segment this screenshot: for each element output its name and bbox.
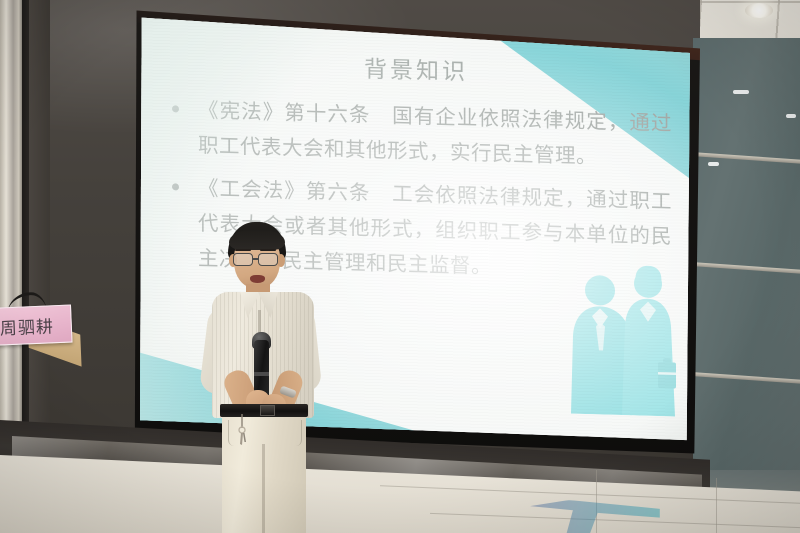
bullet-marker-icon (172, 92, 198, 163)
presenter-mouth (250, 275, 265, 283)
right-glass-wall (693, 38, 800, 488)
ceiling-downlight (745, 3, 773, 18)
keychain-icon (238, 414, 247, 448)
glass-reflection (708, 162, 719, 166)
nameplate-text: 周驷耕 (0, 312, 54, 339)
eyeglasses-icon (233, 253, 253, 266)
glass-wall-seam (693, 261, 800, 274)
bullet-marker-icon (172, 170, 198, 276)
floor-tile-seam (716, 478, 717, 533)
slide-bullet-item: 《宪法》第十六条 国有企业依照法律规定，通过职工代表大会和其他形式，实行民主管理… (172, 92, 672, 176)
presenter-figure (198, 222, 328, 533)
eyeglasses-bridge (253, 258, 258, 260)
belt-buckle-icon (260, 405, 275, 416)
glass-wall-seam (693, 371, 800, 384)
desk-nameplate: 周驷耕 (0, 304, 79, 356)
microphone-band (254, 372, 269, 376)
glass-reflection (733, 90, 749, 94)
nameplate-card: 周驷耕 (0, 304, 73, 345)
presenter-trouser-seam (262, 444, 265, 533)
presenter-hair-fringe (229, 230, 285, 250)
scene-photograph: 背景知识 《宪法》第十六条 国有企业依照法律规定，通过职工代表大会和其他形式，实… (0, 0, 800, 533)
glass-reflection (786, 114, 796, 118)
presenter-ear (277, 254, 285, 267)
slide-bullet-text: 《宪法》第十六条 国有企业依照法律规定，通过职工代表大会和其他形式，实行民主管理… (198, 93, 672, 176)
presenter-trouser-pocket (282, 420, 302, 446)
eyeglasses-icon (258, 253, 278, 266)
floor-tile-seam (596, 470, 597, 533)
